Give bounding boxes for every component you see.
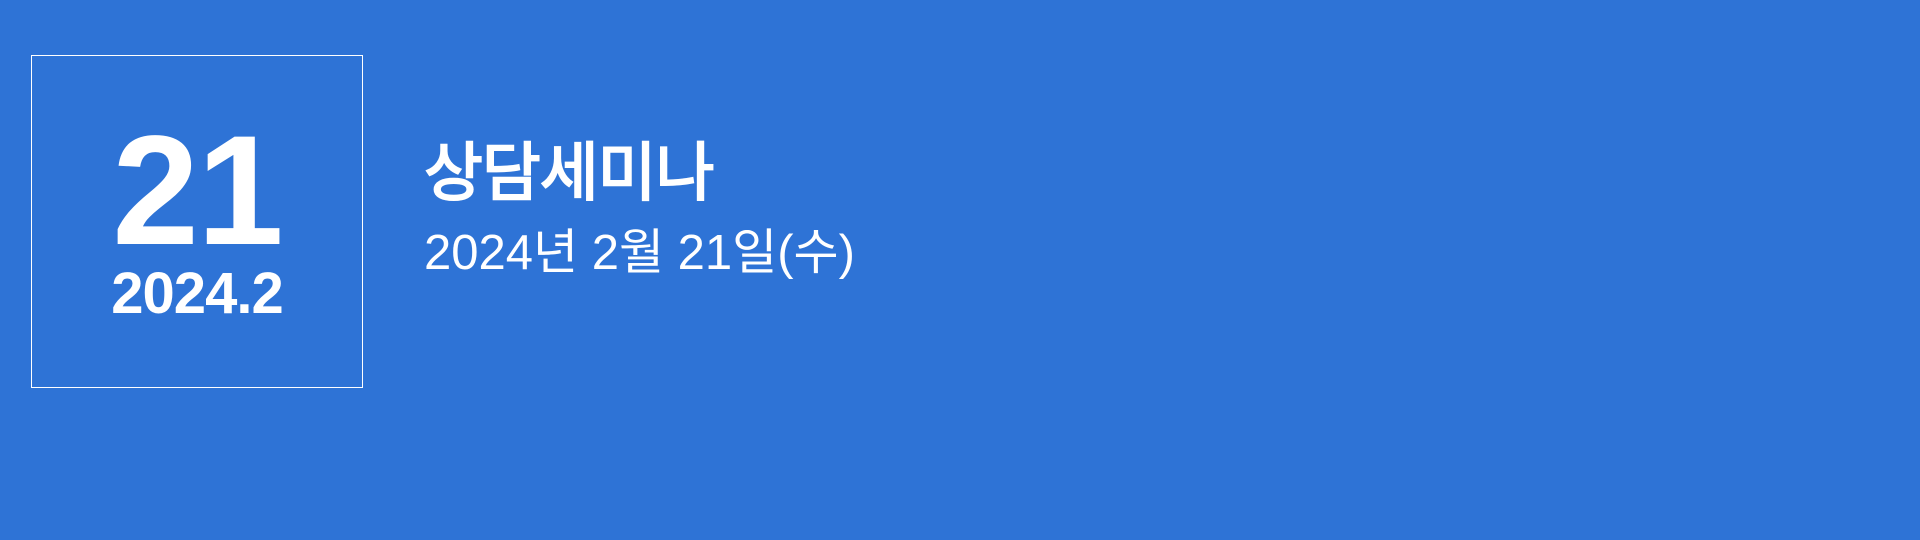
event-banner: 21 2024.2 상담세미나 2024년 2월 21일(수) xyxy=(0,0,1920,540)
event-title: 상담세미나 xyxy=(424,138,1824,210)
event-date-subtitle: 2024년 2월 21일(수) xyxy=(424,224,1824,283)
date-badge-day: 21 xyxy=(112,120,282,264)
date-badge-box: 21 2024.2 xyxy=(31,55,363,388)
date-badge-year-month: 2024.2 xyxy=(111,265,282,323)
event-text-block: 상담세미나 2024년 2월 21일(수) xyxy=(424,138,1824,282)
